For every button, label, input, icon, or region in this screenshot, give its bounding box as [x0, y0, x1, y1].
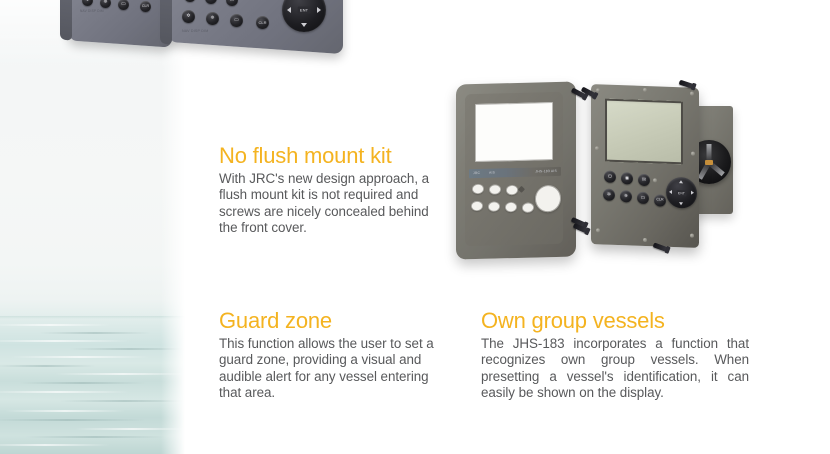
feature-body: This function allows the user to set a g…	[219, 336, 454, 402]
unit-dpad-arrow-right-icon	[691, 191, 694, 195]
marketing-feature-page: ✲ ✵ ▭ CLR NAV DISP DIM ⏻ ◉ ✉ ✲ ✵ ▭ CLR N…	[0, 0, 830, 454]
feature-body: The JHS-183 incorporates a function that…	[481, 336, 749, 402]
keypad-rear-side	[60, 0, 72, 41]
dpad-arrow-down-icon	[301, 23, 307, 27]
feature-heading: Guard zone	[219, 308, 454, 334]
unit-button-3: ✉	[638, 174, 650, 186]
bezel-tag-mid: AIS	[489, 171, 495, 175]
unit-front-body: ⏻ ◉ ✉ ✲ ✵ ▭ CLR ENT	[591, 84, 699, 248]
cut-off-heading-right	[481, 448, 749, 454]
unit-bolt-br	[690, 234, 694, 238]
unit-button-6: ▭	[637, 192, 649, 204]
cut-off-heading-left	[219, 448, 449, 454]
feature-guard-zone: Guard zone This function allows the user…	[219, 308, 454, 402]
unit-dpad: ENT	[666, 177, 697, 209]
keypad-front-label-row: NAV DISP DIM	[182, 29, 208, 33]
unit-lcd-display	[605, 99, 683, 165]
front-cover-bezel: JRC AIS JHS-183 AIS	[456, 81, 576, 259]
seascape-photo	[0, 0, 187, 454]
unit-dpad-arrow-down-icon	[679, 202, 683, 205]
dpad-arrow-left-icon	[287, 7, 291, 13]
feature-no-flush-mount-kit: No flush mount kit With JRC's new design…	[219, 143, 449, 237]
unit-button-cluster: ⏻ ◉ ✉ ✲ ✵ ▭ CLR ENT	[603, 171, 689, 226]
unit-button-5: ✵	[620, 190, 632, 202]
device-keypad-rear: ✲ ✵ ▭ CLR NAV DISP DIM	[60, 0, 175, 56]
unit-bolt-tm	[643, 88, 647, 92]
keypad-front-side	[160, 0, 172, 45]
unit-bolt-bl	[596, 228, 600, 232]
feature-heading: No flush mount kit	[219, 143, 449, 169]
unit-dpad-enter-label: ENT	[676, 190, 687, 196]
keypad-rear-label-row: NAV DISP DIM	[80, 9, 104, 13]
unit-button-1: ⏻	[604, 171, 616, 183]
keypad-front-button-clr: CLR	[256, 16, 269, 29]
keypad-front-button-nav: ✲	[182, 10, 195, 23]
unit-bolt-bm	[643, 238, 647, 242]
unit-button-4: ✲	[603, 189, 615, 201]
feature-own-group-vessels: Own group vessels The JHS-183 incorporat…	[481, 308, 749, 402]
keypad-front-button-dim: ▭	[230, 14, 243, 27]
unit-bolt-ml	[595, 146, 599, 150]
water-ripples	[0, 318, 187, 454]
keypad-rear-button-clr: CLR	[140, 1, 151, 12]
unit-bolt-tr	[690, 92, 694, 96]
feature-body: With JRC's new design approach, a flush …	[219, 171, 449, 237]
feature-heading: Own group vessels	[481, 308, 749, 334]
unit-button-clr: CLR	[654, 194, 666, 206]
device-keypad-front: ⏻ ◉ ✉ ✲ ✵ ▭ CLR NAV DISP DIM ENT	[160, 0, 350, 58]
bezel-product-label: JHS-183 AIS	[535, 169, 557, 174]
unit-bolt-mr	[691, 152, 695, 156]
unit-dpad-arrow-up-icon	[679, 180, 683, 183]
dpad-enter-label: ENT	[298, 7, 311, 14]
photo-right-fade	[161, 0, 187, 454]
unit-dpad-arrow-left-icon	[669, 190, 672, 194]
unit-button-2: ◉	[621, 172, 633, 184]
jhs-183-transponder-unit: ⏻ ◉ ✉ ✲ ✵ ▭ CLR ENT	[583, 80, 748, 265]
unit-led	[653, 178, 657, 182]
dpad-arrow-right-icon	[317, 7, 321, 13]
bezel-tag-left: JRC	[473, 171, 480, 175]
keypad-front-button-disp: ✵	[206, 12, 219, 25]
bezel-display-cutout	[475, 102, 553, 162]
